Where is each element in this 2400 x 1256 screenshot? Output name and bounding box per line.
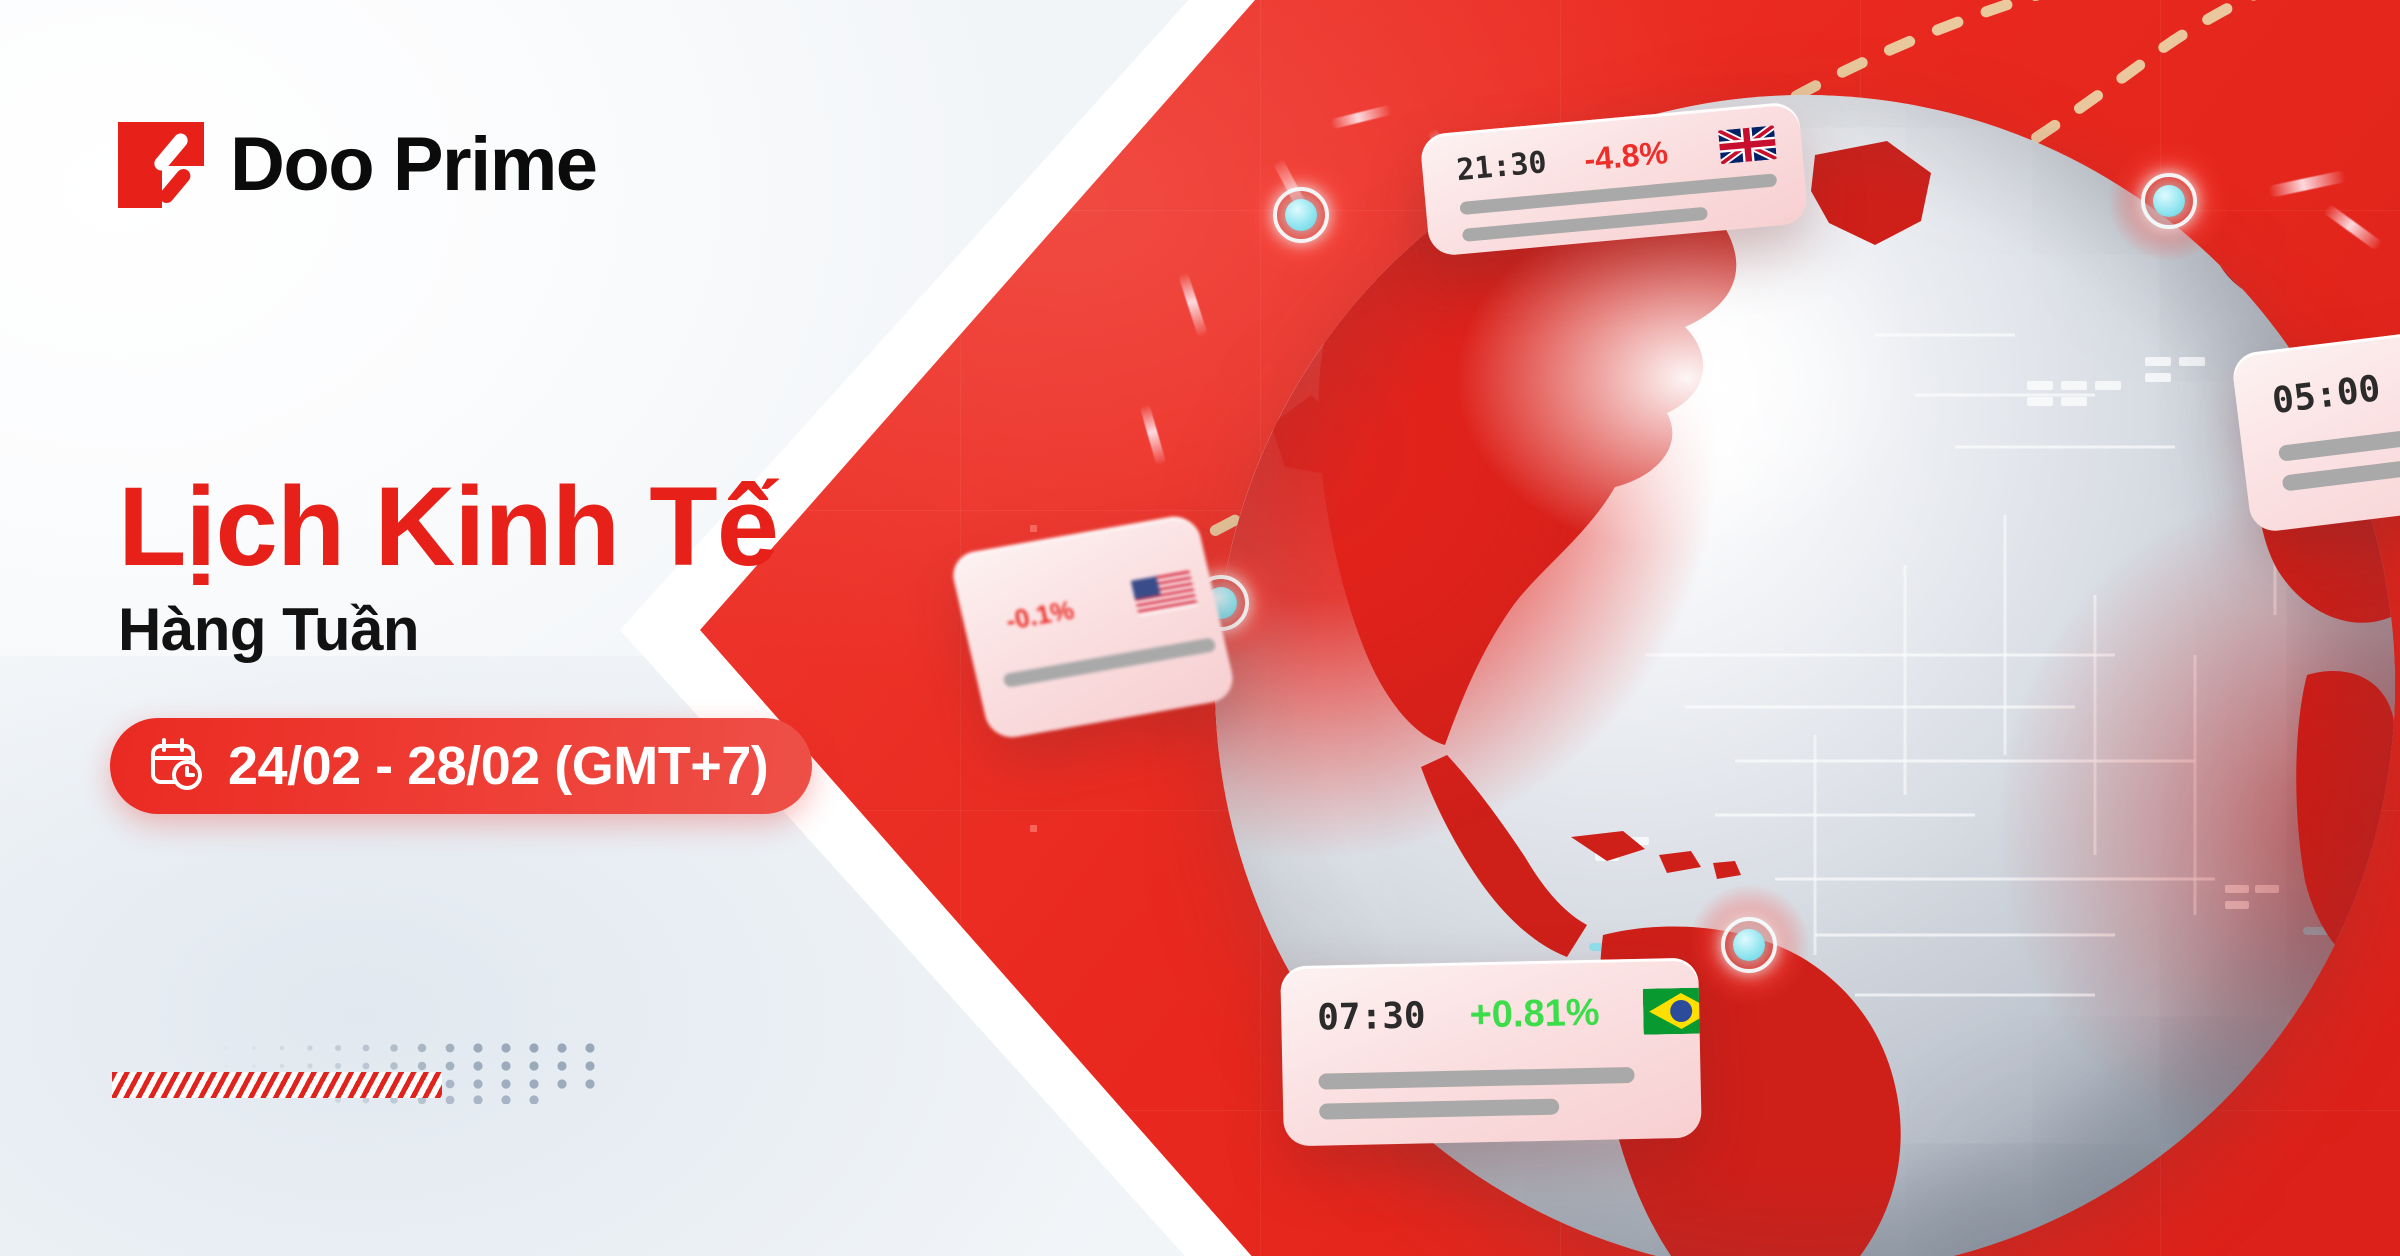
data-card-brazil[interactable]: 07:30 +0.81%	[1280, 958, 1702, 1147]
card-percent: +0.81%	[1469, 994, 1600, 1035]
card-percent: -4.8%	[1583, 136, 1669, 175]
grid-node	[1030, 525, 1037, 532]
card-header: 07:30 +0.81%	[1280, 958, 1700, 1043]
doo-prime-mark-icon	[118, 122, 204, 208]
brazil-flag	[1643, 987, 1702, 1035]
calendar-clock-icon	[148, 736, 204, 797]
card-time: 07:30	[1317, 998, 1426, 1036]
location-marker[interactable]	[1721, 917, 1777, 973]
card-placeholder-bars	[1282, 1034, 1702, 1121]
united-kingdom-flag	[1718, 125, 1777, 164]
brand-name: Doo Prime	[230, 127, 597, 203]
date-range-badge[interactable]: 24/02 - 28/02 (GMT+7)	[110, 718, 812, 814]
economic-calendar-banner: 21:30 -4.8% -0.1%	[0, 0, 2400, 1256]
diagonal-stripe-bar	[112, 1072, 442, 1098]
card-time: 21:30	[1455, 148, 1548, 186]
location-marker[interactable]	[1273, 187, 1329, 243]
grid-node	[1030, 825, 1037, 832]
brand-logo[interactable]: Doo Prime	[118, 122, 597, 208]
date-range-text: 24/02 - 28/02 (GMT+7)	[228, 739, 768, 793]
location-marker[interactable]	[2141, 173, 2197, 229]
page-subtitle: Hàng Tuần	[118, 600, 419, 660]
page-title: Lịch Kinh Tế	[118, 470, 778, 584]
